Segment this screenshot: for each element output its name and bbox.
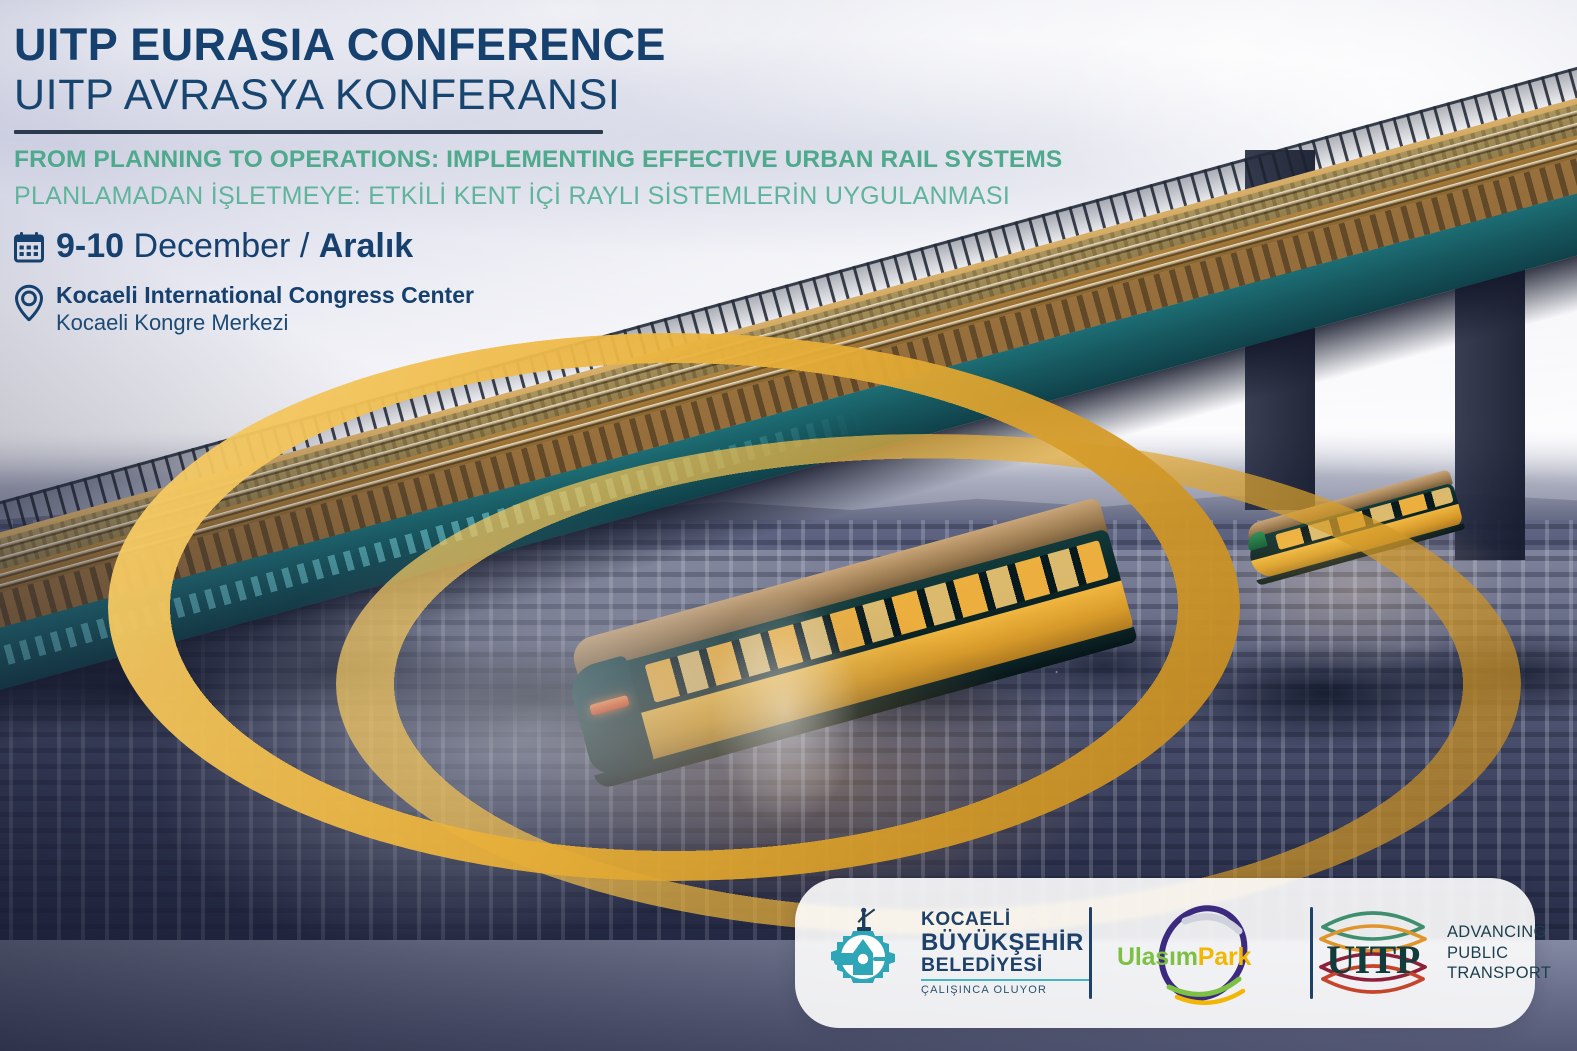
kocaeli-gear-emblem-icon (817, 903, 909, 1003)
kocaeli-line-1: KOCAELİ (921, 910, 1089, 930)
page-title-turkish: UITP AVRASYA KONFERANSI (14, 72, 1094, 119)
conference-poster: UITP EURASIA CONFERENCE UITP AVRASYA KON… (0, 0, 1577, 1051)
page-title-english: UITP EURASIA CONFERENCE (14, 22, 1094, 68)
venue-name-english: Kocaeli International Congress Center (56, 282, 474, 308)
logo-uitp[interactable]: UITP ADVANCING PUBLIC TRANSPORT (1313, 878, 1551, 1028)
header-text-block: UITP EURASIA CONFERENCE UITP AVRASYA KON… (14, 22, 1094, 337)
logo-ulasimpark[interactable]: UlasımPark (1092, 878, 1310, 1028)
calendar-icon (14, 231, 44, 268)
logo-panel: KOCAELİ BÜYÜKŞEHİR BELEDİYESİ ÇALIŞINCA … (795, 878, 1535, 1028)
title-divider (14, 130, 603, 134)
map-pin-icon (14, 284, 44, 327)
kocaeli-tagline: ÇALIŞINCA OLUYOR (921, 984, 1089, 996)
event-date-month-en: December (134, 227, 291, 265)
event-venue: Kocaeli International Congress Center Ko… (56, 282, 474, 337)
event-date-month-tr: Aralık (319, 227, 414, 265)
kocaeli-wordmark: KOCAELİ BÜYÜKŞEHİR BELEDİYESİ ÇALIŞINCA … (921, 910, 1089, 997)
subtitle-english: FROM PLANNING TO OPERATIONS: IMPLEMENTIN… (14, 146, 1094, 175)
uitp-tagline-line-1: ADVANCING (1447, 922, 1551, 943)
ulasimpark-swoosh-icon: UlasımPark (1111, 901, 1291, 1005)
ulasimpark-wordmark: UlasımPark (1117, 945, 1297, 970)
venue-name-turkish: Kocaeli Kongre Merkezi (56, 310, 474, 337)
uitp-tagline: ADVANCING PUBLIC TRANSPORT (1447, 922, 1551, 984)
kocaeli-divider (921, 979, 1089, 981)
event-details: 9-10 December / Aralık Kocaeli Internati… (14, 229, 1094, 337)
kocaeli-line-3: BELEDİYESİ (921, 955, 1089, 975)
uitp-arcs-icon: UITP (1313, 901, 1433, 1005)
logo-kocaeli-municipality[interactable]: KOCAELİ BÜYÜKŞEHİR BELEDİYESİ ÇALIŞINCA … (795, 878, 1089, 1028)
event-date: 9-10 December / Aralık (56, 229, 413, 265)
subtitle-turkish: PLANLAMADAN İŞLETMEYE: ETKİLİ KENT İÇİ R… (14, 180, 1094, 213)
uitp-tagline-line-3: TRANSPORT (1447, 963, 1551, 984)
event-date-separator: / (300, 227, 309, 265)
kocaeli-line-2: BÜYÜKŞEHİR (921, 930, 1089, 955)
ulasimpark-name-part1: Ulasım (1117, 943, 1198, 971)
ulasimpark-name-part2: Park (1198, 943, 1251, 971)
event-date-days: 9-10 (56, 227, 124, 265)
uitp-wordmark: UITP (1313, 936, 1433, 983)
uitp-tagline-line-2: PUBLIC (1447, 943, 1551, 964)
event-date-row: 9-10 December / Aralık (14, 229, 1094, 268)
event-venue-row: Kocaeli International Congress Center Ko… (14, 282, 1094, 337)
